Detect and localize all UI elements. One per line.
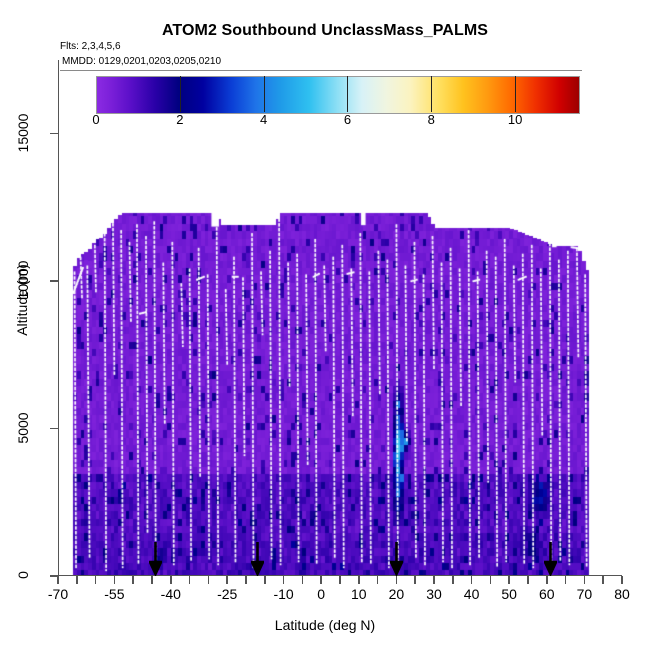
x-axis-tick-label: -10 bbox=[273, 586, 293, 602]
x-axis-tick-label: 20 bbox=[389, 586, 405, 602]
x-axis-tick bbox=[57, 576, 59, 584]
x-axis-tick-label: 40 bbox=[464, 586, 480, 602]
flights-annotation: Flts: 2,3,4,5,6 bbox=[60, 41, 121, 52]
x-axis-tick-label: -40 bbox=[161, 586, 181, 602]
x-axis-tick bbox=[339, 576, 341, 584]
x-axis-tick bbox=[283, 576, 285, 584]
x-axis-label: Latitude (deg N) bbox=[0, 617, 650, 633]
x-axis-tick bbox=[471, 576, 473, 584]
x-axis-tick-label: -25 bbox=[217, 586, 237, 602]
x-axis-tick bbox=[621, 576, 623, 584]
x-axis-tick bbox=[358, 576, 360, 584]
arrow-marker-down-icon bbox=[251, 542, 264, 576]
x-axis-tick bbox=[95, 576, 97, 584]
x-axis-tick bbox=[414, 576, 416, 584]
x-axis-tick-label: 10 bbox=[351, 586, 367, 602]
y-axis-tick bbox=[50, 280, 58, 282]
x-axis-tick bbox=[490, 576, 492, 584]
x-axis-tick bbox=[508, 576, 510, 584]
x-axis-tick bbox=[132, 576, 134, 584]
x-axis-tick bbox=[527, 576, 529, 584]
x-axis-tick-label: -55 bbox=[104, 586, 124, 602]
x-axis-tick bbox=[245, 576, 247, 584]
axes-frame bbox=[58, 60, 622, 576]
x-axis-tick bbox=[264, 576, 266, 584]
y-axis-tick-label: 0 bbox=[15, 552, 31, 598]
x-axis-tick bbox=[226, 576, 228, 584]
x-axis-tick bbox=[170, 576, 172, 584]
x-axis-tick bbox=[602, 576, 604, 584]
x-axis-tick bbox=[208, 576, 210, 584]
arrow-marker-down-icon bbox=[149, 542, 162, 576]
x-axis-tick bbox=[433, 576, 435, 584]
y-axis-tick-label: 5000 bbox=[15, 405, 31, 451]
x-axis-tick-label: 50 bbox=[501, 586, 517, 602]
x-axis-tick-label: 80 bbox=[614, 586, 630, 602]
x-axis-tick bbox=[189, 576, 191, 584]
x-axis-tick bbox=[377, 576, 379, 584]
x-axis-tick bbox=[114, 576, 116, 584]
x-axis-tick-label: 70 bbox=[577, 586, 593, 602]
arrow-marker-down-icon bbox=[544, 542, 557, 576]
x-axis-tick bbox=[302, 576, 304, 584]
y-axis-tick bbox=[50, 133, 58, 135]
x-axis-tick bbox=[320, 576, 322, 584]
x-axis-tick bbox=[565, 576, 567, 584]
x-axis-tick bbox=[151, 576, 153, 584]
x-axis-tick-label: 0 bbox=[317, 586, 325, 602]
page-title: ATOM2 Southbound UnclassMass_PALMS bbox=[0, 22, 650, 40]
x-axis-tick bbox=[396, 576, 398, 584]
x-axis-tick-label: -70 bbox=[48, 586, 68, 602]
y-axis-tick bbox=[50, 428, 58, 430]
y-axis-tick-label: 15000 bbox=[15, 110, 31, 156]
x-axis-tick-label: 30 bbox=[426, 586, 442, 602]
arrow-marker-down-icon bbox=[390, 542, 403, 576]
x-axis-tick bbox=[452, 576, 454, 584]
y-axis-label: Altitude (m) bbox=[14, 240, 30, 360]
x-axis-tick bbox=[584, 576, 586, 584]
x-axis-tick bbox=[546, 576, 548, 584]
x-axis-tick-label: 60 bbox=[539, 586, 555, 602]
x-axis-tick bbox=[76, 576, 78, 584]
figure-root: ATOM2 Southbound UnclassMass_PALMS Flts:… bbox=[0, 0, 650, 650]
